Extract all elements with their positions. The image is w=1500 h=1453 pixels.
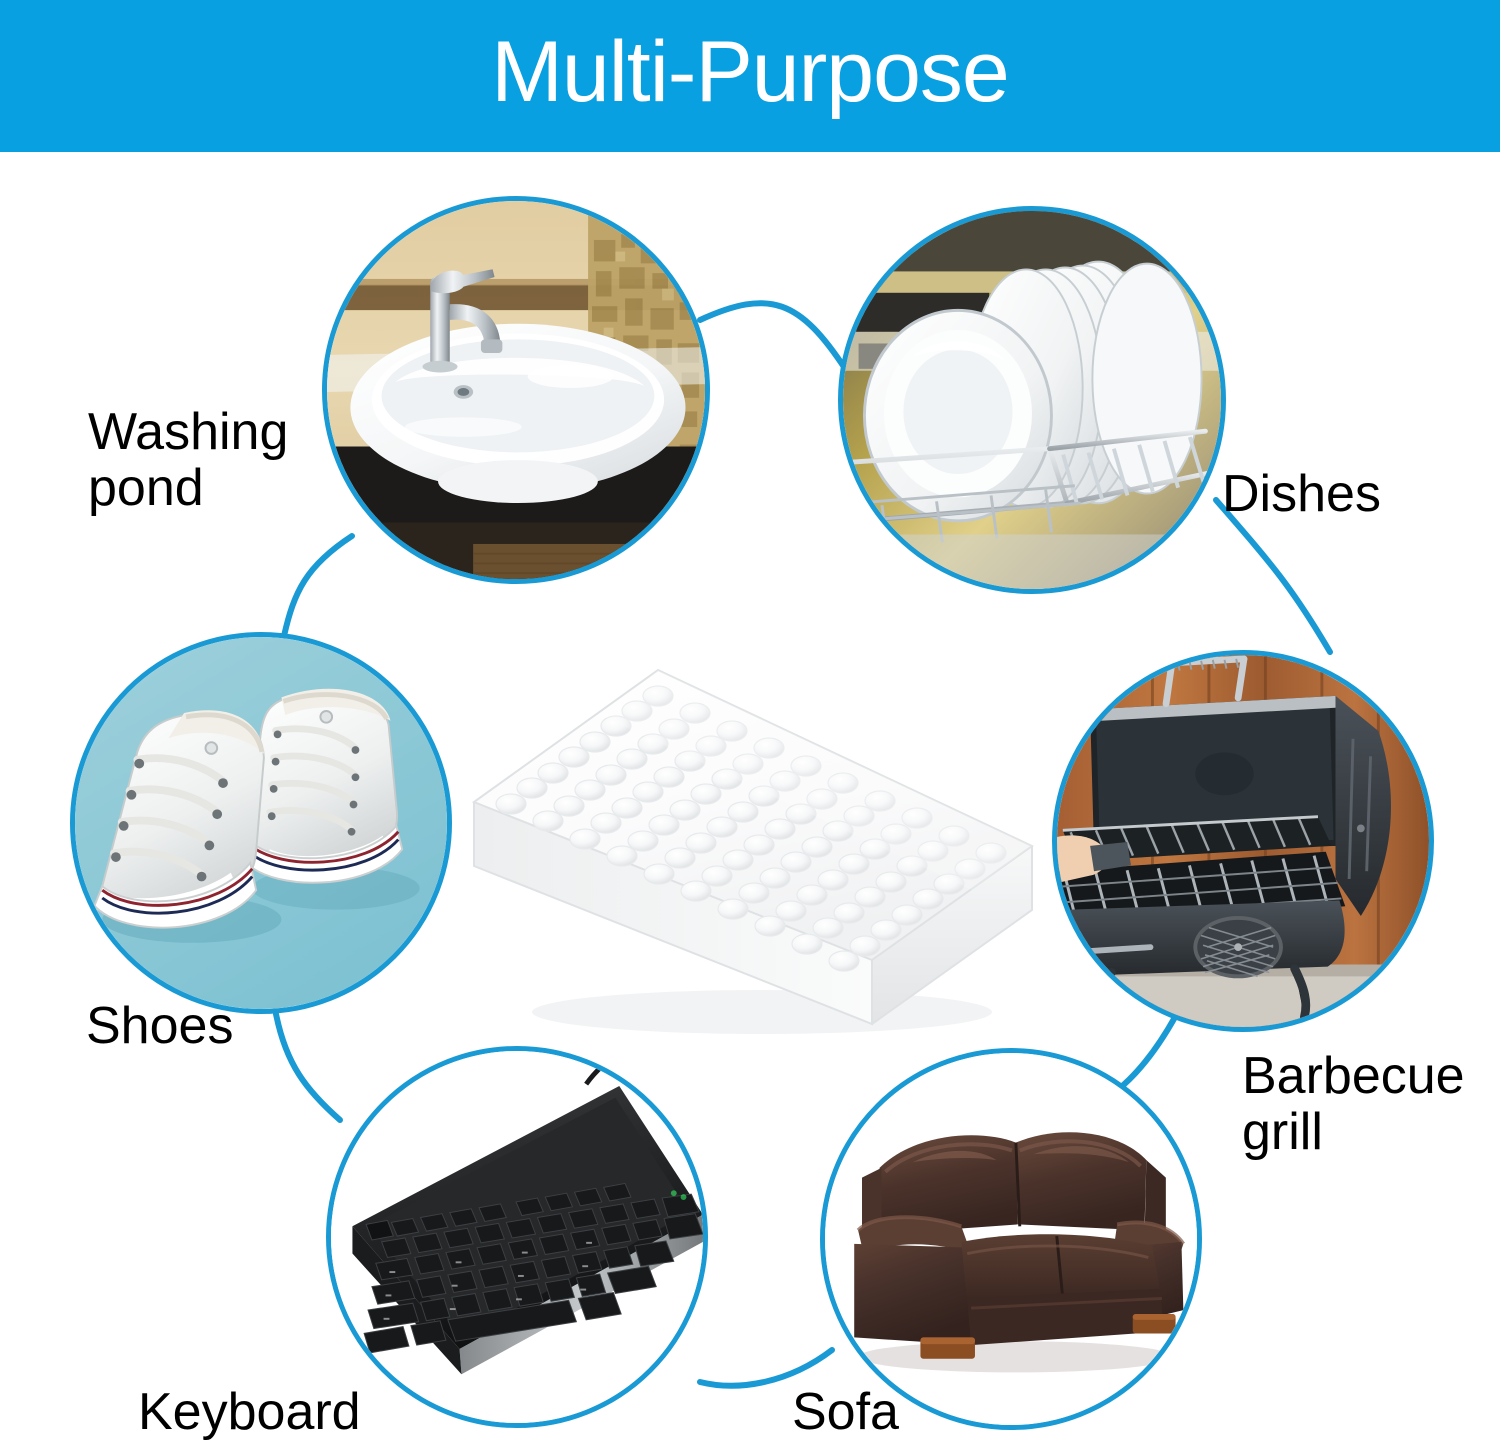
bubble-washing-pond[interactable]	[322, 196, 710, 584]
bubble-label-keyboard: Keyboard	[138, 1384, 458, 1440]
page-title: Multi-Purpose	[0, 0, 1500, 152]
bubble-label-dishes: Dishes	[1222, 466, 1500, 522]
infographic-page: Multi-Purpose	[0, 0, 1500, 1453]
shoes-photo	[75, 637, 447, 1009]
bubble-keyboard[interactable]	[326, 1046, 708, 1428]
bubble-shoes[interactable]	[70, 632, 452, 1014]
arc-washingpond-dishes	[700, 303, 846, 370]
center-product-sponge	[452, 604, 1052, 1064]
bubble-barbecue[interactable]	[1052, 650, 1434, 1032]
dishes-photo	[843, 211, 1221, 589]
keyboard-photo	[331, 1051, 703, 1423]
bubble-label-washing-pond: Washing pond	[88, 404, 348, 516]
sponge-block-illustration	[452, 604, 1052, 1064]
bubble-sofa[interactable]	[820, 1048, 1202, 1430]
arc-sofa-keyboard	[700, 1350, 832, 1386]
bubble-label-barbecue: Barbecue grill	[1242, 1048, 1500, 1160]
bubble-label-shoes: Shoes	[86, 998, 346, 1054]
bubble-dishes[interactable]	[838, 206, 1226, 594]
washing-pond-photo	[327, 201, 705, 579]
barbecue-grill-photo	[1057, 655, 1429, 1027]
bubble-label-sofa: Sofa	[792, 1384, 1012, 1440]
sofa-photo	[825, 1053, 1197, 1425]
header-banner: Multi-Purpose	[0, 0, 1500, 152]
